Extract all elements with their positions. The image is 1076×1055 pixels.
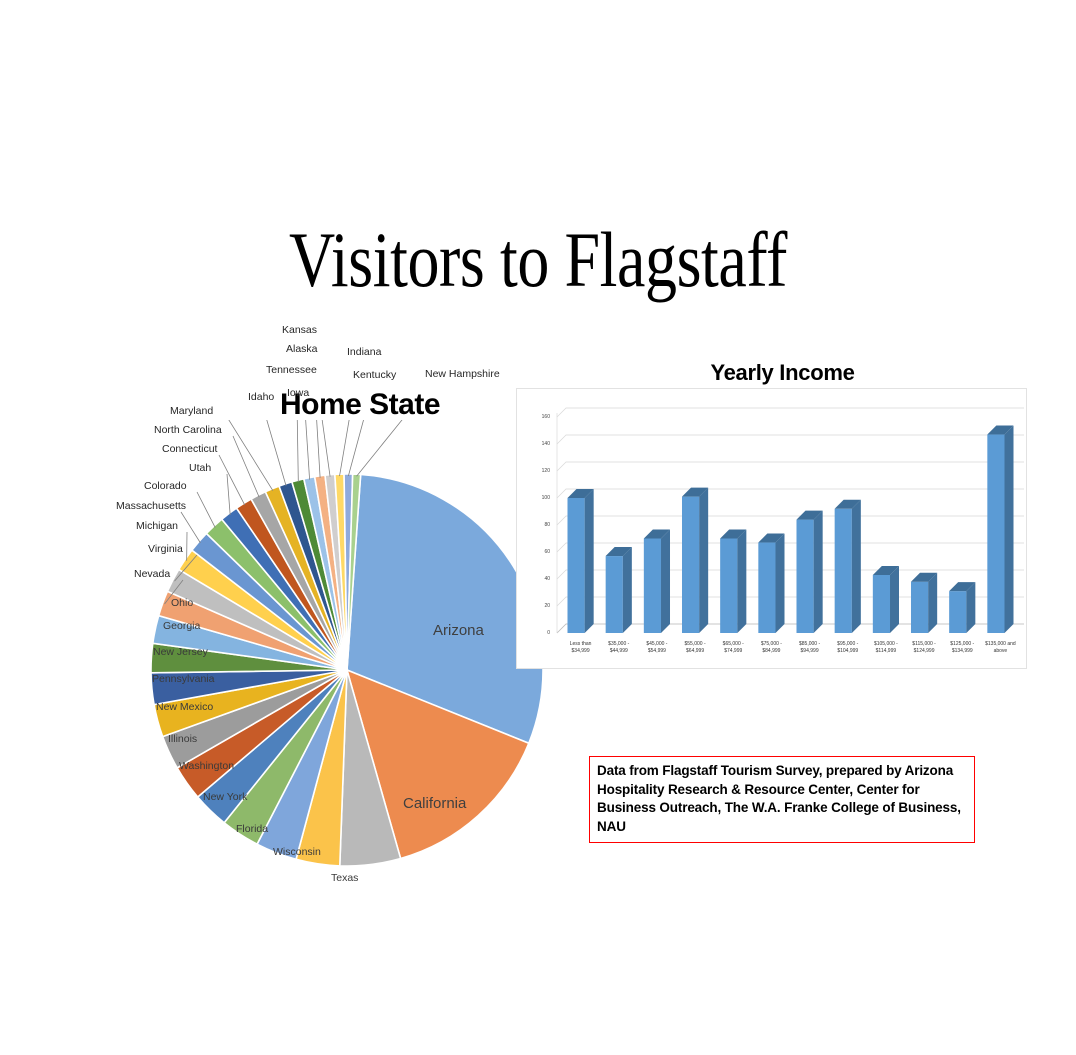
bar — [606, 547, 632, 633]
pie-label-california: California — [403, 795, 466, 812]
poster-canvas: Visitors to Flagstaff Home State Arizona… — [0, 0, 1076, 1055]
bar — [911, 573, 937, 633]
bar — [644, 530, 670, 634]
pie-label-wisconsin: Wisconsin — [273, 846, 321, 858]
y-axis-tick-label: 140 — [528, 441, 550, 447]
y-axis-tick-label: 80 — [528, 522, 550, 528]
pie-label-new-york: New York — [203, 791, 247, 803]
pie-leader-line — [227, 420, 273, 491]
y-axis-tick-label: 100 — [528, 495, 550, 501]
pie-label-florida: Florida — [236, 823, 268, 835]
pie-leader-line — [303, 420, 310, 480]
gridline — [557, 435, 1024, 444]
y-axis-tick-label: 120 — [528, 468, 550, 474]
pie-leader-line — [181, 512, 200, 543]
pie-label-maryland: Maryland — [170, 405, 213, 417]
pie-leader-line — [348, 420, 373, 476]
pie-label-michigan: Michigan — [136, 520, 178, 532]
pie-leader-line — [311, 420, 330, 477]
home-state-chart-title: Home State — [180, 388, 540, 422]
gridline — [557, 462, 1024, 471]
pie-label-illinois: Illinois — [168, 733, 197, 745]
pie-leader-line — [227, 474, 230, 515]
pie-label-kentucky: Kentucky — [353, 369, 396, 381]
pie-label-new-hampshire: New Hampshire — [425, 368, 500, 380]
yearly-income-bar-chart: 020406080100120140160 Less than$34,999$3… — [516, 388, 1027, 669]
pie-label-north-carolina: North Carolina — [154, 424, 222, 436]
pie-label-massachusetts: Massachusetts — [116, 500, 186, 512]
pie-label-texas: Texas — [331, 872, 358, 884]
pie-leader-line — [197, 492, 215, 528]
y-axis-tick-label: 40 — [528, 576, 550, 582]
pie-label-indiana: Indiana — [347, 346, 381, 358]
pie-label-iowa: Iowa — [287, 387, 309, 399]
bar — [949, 582, 975, 633]
bar — [796, 511, 822, 633]
pie-leader-line — [313, 420, 320, 478]
pie-label-ohio: Ohio — [171, 597, 193, 609]
bar — [567, 489, 593, 633]
gridline — [557, 516, 1024, 525]
pie-label-new-jersey: New Jersey — [153, 646, 208, 658]
bar — [758, 534, 784, 633]
gridline — [557, 408, 1024, 417]
bar — [682, 488, 708, 633]
pie-leader-line — [357, 420, 431, 476]
y-axis-tick-label: 160 — [528, 414, 550, 420]
pie-label-utah: Utah — [189, 462, 211, 474]
pie-label-idaho: Idaho — [248, 391, 274, 403]
pie-label-tennessee: Tennessee — [266, 364, 317, 376]
pie-label-virginia: Virginia — [148, 543, 183, 555]
gridline — [557, 489, 1024, 498]
bar — [835, 500, 861, 633]
pie-label-connecticut: Connecticut — [162, 443, 217, 455]
source-caption: Data from Flagstaff Tourism Survey, prep… — [589, 756, 975, 843]
x-axis-tick-label: $135,000 andabove — [978, 641, 1022, 655]
bar — [873, 566, 899, 633]
y-axis-tick-label: 0 — [528, 630, 550, 636]
bar — [720, 530, 746, 634]
pie-leader-line — [233, 436, 259, 497]
pie-label-washington: Washington — [179, 760, 234, 772]
y-axis-tick-label: 20 — [528, 603, 550, 609]
y-axis-tick-label: 60 — [528, 549, 550, 555]
bar — [987, 426, 1013, 633]
pie-label-new-mexico: New Mexico — [156, 701, 213, 713]
pie-leader-line — [263, 420, 286, 486]
pie-label-georgia: Georgia — [163, 620, 200, 632]
pie-label-kansas: Kansas — [282, 324, 317, 336]
pie-label-arizona: Arizona — [433, 622, 484, 639]
pie-leader-line — [219, 455, 245, 505]
pie-label-pennsylvania: Pennsylvania — [152, 673, 214, 685]
pie-label-alaska: Alaska — [286, 343, 318, 355]
pie-label-nevada: Nevada — [134, 568, 170, 580]
bar-svg — [517, 389, 1026, 668]
page-title: Visitors to Flagstaff — [97, 216, 979, 304]
pie-leader-line — [297, 420, 298, 482]
yearly-income-chart-title: Yearly Income — [595, 360, 970, 386]
pie-label-colorado: Colorado — [144, 480, 187, 492]
